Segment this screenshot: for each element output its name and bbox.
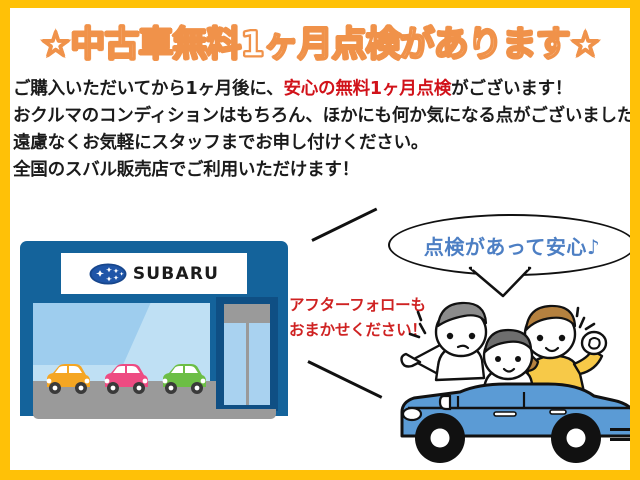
copy-line-4: 全国のスバル販売店でご利用いただけます！	[13, 157, 630, 184]
motion-line-lower	[610, 438, 630, 441]
speech-bubble-tail-icon	[468, 266, 538, 298]
copy-line-1: ご購入いただいてから1ヶ月後に、安心の無料1ヶ月点検がございます！	[13, 76, 630, 103]
family-car	[402, 384, 630, 463]
poster-frame: ☆中古車無料1ヶ月点検があります☆ ご購入いただいてから1ヶ月後に、安心の無料1…	[0, 0, 640, 480]
showroom-car-pink	[100, 363, 152, 396]
subaru-wordmark: SUBARU	[133, 264, 219, 284]
showroom-entrance-header	[224, 304, 270, 323]
showroom-signboard: SUBARU	[61, 253, 247, 294]
showroom-entrance-divider	[246, 323, 249, 405]
subaru-six-star-logo-icon	[89, 263, 127, 285]
copy-line-2: おクルマのコンディションはもちろん、ほかにも何か気になる点がございましたら	[13, 103, 630, 130]
showroom-car-green	[158, 363, 210, 396]
connector-line-bottom	[307, 360, 382, 399]
connector-line-top	[311, 208, 377, 242]
copy-line-1-post: がございます！	[451, 79, 572, 99]
speech-bubble-text: 点検があって安心♪	[424, 231, 600, 260]
family-in-car-illustration	[398, 296, 630, 470]
poster-canvas: ☆中古車無料1ヶ月点検があります☆ ご購入いただいてから1ヶ月後に、安心の無料1…	[10, 8, 630, 470]
copy-line-1-highlight: 安心の無料1ヶ月点検	[283, 79, 451, 99]
speech-bubble: 点検があって安心♪	[388, 214, 630, 292]
copy-line-1-pre: ご購入いただいてから1ヶ月後に、	[13, 79, 283, 99]
body-copy: ご購入いただいてから1ヶ月後に、安心の無料1ヶ月点検がございます！ おクルマのコ…	[13, 76, 630, 184]
window-reflection	[33, 303, 155, 365]
showroom-base	[33, 409, 276, 419]
subaru-showroom-illustration: SUBARU	[20, 241, 288, 438]
showroom-car-orange	[42, 363, 94, 396]
page-title-text: ☆中古車無料1ヶ月点検があります☆	[40, 16, 600, 67]
page-title: ☆中古車無料1ヶ月点検があります☆	[10, 16, 630, 67]
motion-line-upper	[610, 428, 630, 431]
family-member-father	[402, 303, 487, 380]
copy-line-3: 遠慮なくお気軽にスタッフまでお申し付けください。	[13, 130, 630, 157]
